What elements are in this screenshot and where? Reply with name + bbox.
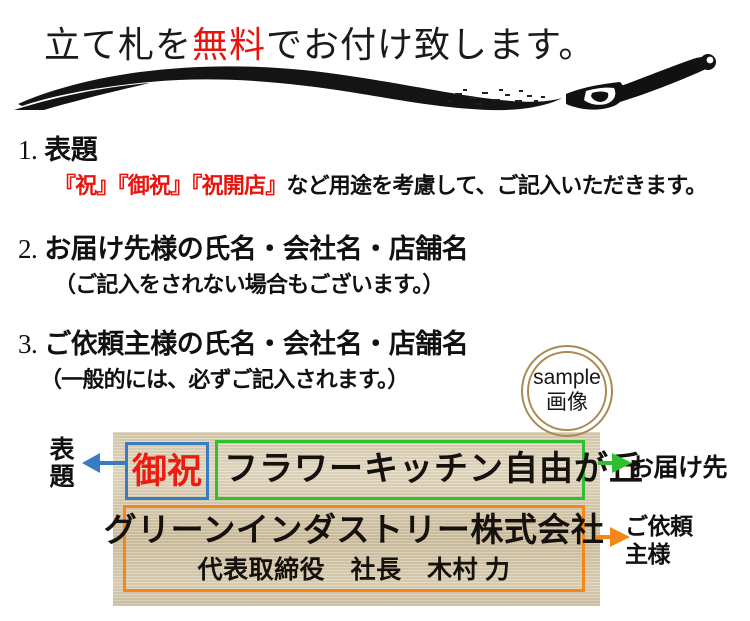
item-3-note-text: （一般的には、必ずご記入されます。）: [40, 367, 408, 392]
item-1-title: 表題: [44, 135, 97, 165]
brush-loop-hole: [707, 57, 714, 64]
item-2-note-text: （ご記入をされない場合もございます。）: [54, 272, 444, 297]
sample-image-badge-ring: sample 画像: [527, 351, 607, 431]
item-1-example-text: 『祝』『御祝』『祝開店』: [54, 173, 286, 198]
plaque-sender-company-text: グリーンインダストリー株式会社: [104, 515, 605, 548]
callout-label-recipient: お届け先: [629, 448, 727, 484]
item-1-note-text: など用途を考慮して、ご記入いただきます。: [286, 173, 706, 198]
sample-image-badge: sample 画像: [521, 345, 613, 437]
callout-label-title: 表題: [47, 437, 77, 490]
sample-badge-label-jp: 画像: [546, 391, 588, 415]
plaque-title-text: 御祝: [132, 454, 202, 489]
item-2-number: 2.: [18, 234, 37, 264]
callout-label-sender: ご依頼 主様: [625, 512, 693, 568]
arrow-right-orange-icon: [596, 524, 630, 550]
callout-label-sender-line1: ご依頼: [625, 513, 693, 539]
sample-badge-label-en: sample: [533, 367, 601, 388]
header-banner: 立て札を無料でお付け致します。: [0, 0, 750, 118]
item-2-description: （ご記入をされない場合もございます。）: [54, 267, 444, 299]
plaque-sender-box: グリーンインダストリー株式会社 代表取締役 社長 木村 力: [123, 505, 585, 592]
plaque-recipient-box: フラワーキッチン自由が丘: [215, 440, 585, 500]
item-3-description: （一般的には、必ずご記入されます。）: [40, 362, 408, 394]
arrow-left-blue-icon: [82, 450, 126, 476]
item-1-heading: 1. 表題: [18, 128, 97, 167]
item-3-title: ご依頼主様の氏名・会社名・店舗名: [44, 329, 468, 359]
plaque-sender-person-text: 代表取締役 社長 木村 力: [198, 558, 511, 583]
item-2-title: お届け先様の氏名・会社名・店舗名: [44, 234, 468, 264]
plaque-title-box: 御祝: [125, 442, 209, 500]
item-1-description: 『祝』『御祝』『祝開店』など用途を考慮して、ご記入いただきます。: [54, 168, 706, 200]
callout-label-sender-line2: 主様: [625, 541, 670, 567]
item-3-number: 3.: [18, 329, 37, 359]
item-2-heading: 2. お届け先様の氏名・会社名・店舗名: [18, 227, 468, 266]
arrow-right-green-icon: [598, 450, 632, 476]
item-3-heading: 3. ご依頼主様の氏名・会社名・店舗名: [18, 322, 468, 361]
wooden-plaque-sample: 御祝 フラワーキッチン自由が丘 グリーンインダストリー株式会社 代表取締役 社長…: [113, 432, 600, 605]
item-1-number: 1.: [18, 135, 37, 165]
ink-brush-stroke-icon: [0, 48, 750, 118]
plaque-recipient-text: フラワーキッチン自由が丘: [224, 453, 644, 487]
